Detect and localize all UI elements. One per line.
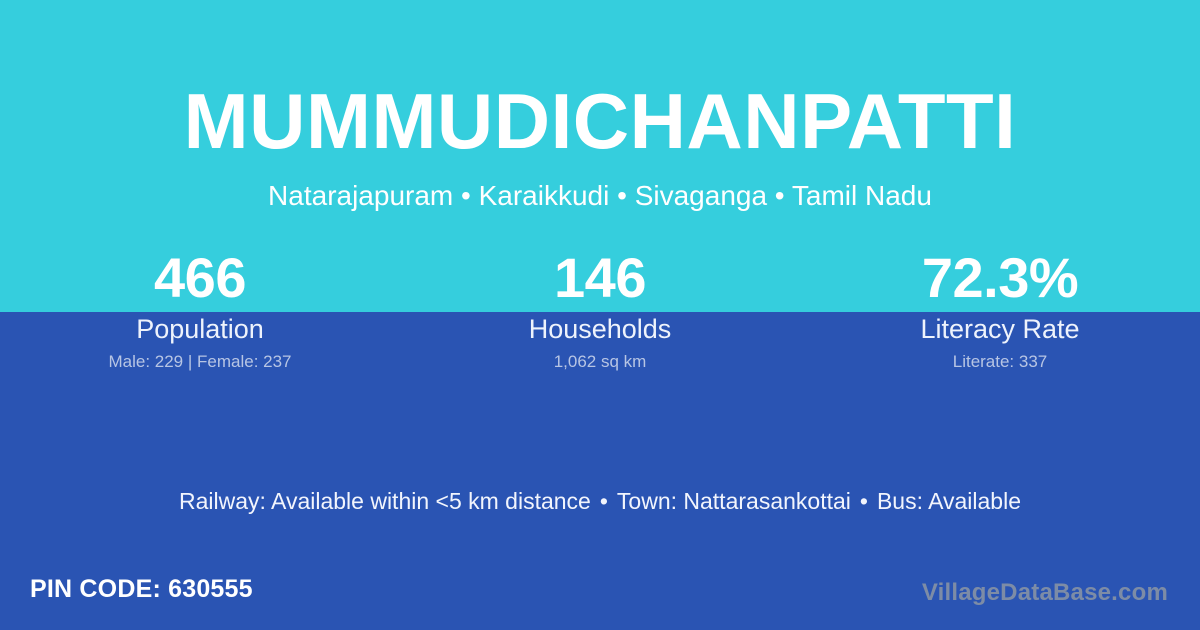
header: MUMMUDICHANPATTI Natarajapuram • Karaikk… [0,0,1200,210]
stat-population: 466 Population Male: 229 | Female: 237 [0,246,400,373]
stat-literacy-label: Literacy Rate [800,313,1200,345]
stat-literacy-sub: Literate: 337 [800,351,1200,373]
stat-literacy: 72.3% Literacy Rate Literate: 337 [800,246,1200,373]
stat-population-label: Population [0,313,400,345]
site-watermark: VillageDataBase.com [922,578,1168,608]
facility-bus: Bus: Available [877,488,1021,514]
page-title: MUMMUDICHANPATTI [0,82,1200,160]
breadcrumb: Natarajapuram • Karaikkudi • Sivaganga •… [0,182,1200,210]
stat-households: 146 Households 1,062 sq km [400,246,800,373]
stat-households-sub: 1,062 sq km [400,351,800,373]
stat-literacy-value: 72.3% [800,246,1200,310]
facility-railway: Railway: Available within <5 km distance [179,488,591,514]
facilities-line: Railway: Available within <5 km distance… [0,487,1200,515]
facility-town: Town: Nattarasankottai [617,488,851,514]
stats-row: 466 Population Male: 229 | Female: 237 1… [0,246,1200,373]
pin-code: PIN CODE: 630555 [30,574,253,604]
facility-separator-1: • [591,488,617,514]
stat-population-sub: Male: 229 | Female: 237 [0,351,400,373]
stat-households-value: 146 [400,246,800,310]
village-info-card: MUMMUDICHANPATTI Natarajapuram • Karaikk… [0,0,1200,630]
facility-separator-2: • [851,488,877,514]
stat-population-value: 466 [0,246,400,310]
stat-households-label: Households [400,313,800,345]
